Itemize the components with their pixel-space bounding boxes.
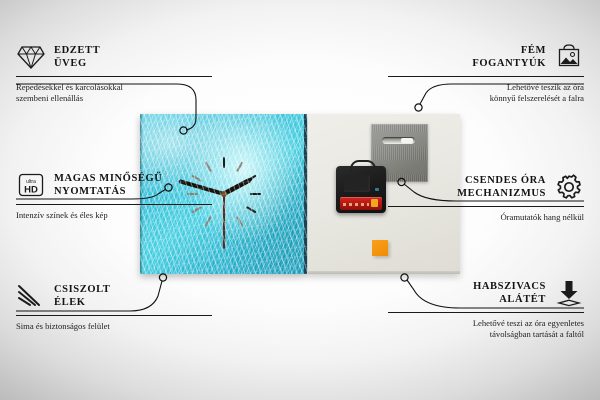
foam-spacer-pad: [372, 240, 388, 256]
callout-title-line1: EDZETT: [54, 45, 100, 56]
callout-desc-line2: szembeni ellenállás: [16, 93, 83, 103]
clock-mechanism: [336, 166, 386, 213]
ultra-hd-icon: ultra HD: [16, 170, 46, 200]
callout-desc-line1: Sima és biztonságos felület: [16, 321, 110, 331]
svg-text:HD: HD: [24, 185, 38, 196]
callout-title: CSENDES ÓRA MECHANIZMUS: [457, 174, 546, 200]
callout-divider: [388, 206, 584, 207]
battery: [340, 197, 382, 210]
callout-divider: [16, 204, 212, 205]
callout-desc-line2: távolságban tartását a faltól: [490, 329, 584, 339]
clock-second-hand: [223, 194, 225, 249]
tick-12: [223, 157, 225, 231]
callout-title: HABSZIVACS ALÁTÉT: [473, 280, 546, 306]
callout-desc-line1: Repedésekkel és karcolásokkal: [16, 82, 123, 92]
callout-divider: [388, 312, 584, 313]
callout-high-quality-print: ultra HD MAGAS MINŐSÉGŰ NYOMTATÁS Intenz…: [16, 170, 212, 221]
callout-polished-edges: CSISZOLT ÉLEK Sima és biztonságos felüle…: [16, 281, 212, 332]
infographic-canvas: EDZETT ÜVEG Repedésekkel és karcolásokka…: [0, 0, 600, 400]
callout-tempered-glass: EDZETT ÜVEG Repedésekkel és karcolásokka…: [16, 42, 212, 105]
callout-metal-handles: FÉM FOGANTYÚK Lehetővé teszik az óra kön…: [388, 42, 584, 105]
callout-title: MAGAS MINŐSÉGŰ NYOMTATÁS: [54, 172, 162, 198]
callout-title-line2: ALÁTÉT: [499, 294, 546, 305]
glass-edge-right: [304, 114, 307, 274]
callout-header: ultra HD MAGAS MINŐSÉGŰ NYOMTATÁS: [16, 170, 212, 200]
diagonal-lines-icon: [16, 281, 46, 311]
callout-desc-line1: Intenzív színek és éles kép: [16, 210, 108, 220]
mechanism-indicator: [375, 188, 379, 191]
panel-shelf-edge: [308, 271, 460, 274]
diamond-icon: [16, 42, 46, 72]
callout-title-line1: MAGAS MINŐSÉGŰ: [54, 173, 162, 184]
callout-desc-line1: Óramutatók hang nélkül: [500, 212, 584, 222]
callout-silent-mechanism: CSENDES ÓRA MECHANIZMUS Óramutatók hang …: [388, 172, 584, 223]
callout-desc-line2: könnyű felszerelését a falra: [490, 93, 584, 103]
callout-title: EDZETT ÜVEG: [54, 44, 100, 70]
callout-description: Lehetővé teszi az óra egyenletes távolsá…: [388, 318, 584, 341]
callout-title-line2: ÜVEG: [54, 58, 87, 69]
down-arrow-pad-icon: [554, 278, 584, 308]
callout-description: Repedésekkel és karcolásokkal szembeni e…: [16, 82, 212, 105]
callout-title-line2: MECHANIZMUS: [457, 188, 546, 199]
clock-center-pin: [221, 191, 227, 197]
callout-title-line2: FOGANTYÚK: [472, 58, 546, 69]
callout-header: HABSZIVACS ALÁTÉT: [388, 278, 584, 308]
callout-header: CSISZOLT ÉLEK: [16, 281, 212, 311]
picture-hanger-icon: [554, 42, 584, 72]
callout-title: FÉM FOGANTYÚK: [472, 44, 546, 70]
tick-6: [223, 157, 225, 231]
callout-title-line1: CSENDES ÓRA: [465, 175, 546, 186]
callout-title: CSISZOLT ÉLEK: [54, 283, 110, 309]
callout-header: EDZETT ÜVEG: [16, 42, 212, 72]
callout-description: Intenzív színek és éles kép: [16, 210, 212, 221]
callout-title-line1: CSISZOLT: [54, 284, 110, 295]
gear-icon: [554, 172, 584, 202]
callout-description: Sima és biztonságos felület: [16, 321, 212, 332]
callout-title-line1: FÉM: [521, 45, 546, 56]
callout-desc-line1: Lehetővé teszik az óra: [507, 82, 584, 92]
wire-endpoint-metal-handles: [415, 104, 422, 111]
callout-foam-spacer: HABSZIVACS ALÁTÉT Lehetővé teszi az óra …: [388, 278, 584, 341]
callout-title-line2: NYOMTATÁS: [54, 186, 126, 197]
callout-desc-line1: Lehetővé teszi az óra egyenletes: [473, 318, 584, 328]
callout-divider: [16, 315, 212, 316]
hanger-slot: [382, 137, 415, 144]
callout-divider: [388, 76, 584, 77]
callout-header: FÉM FOGANTYÚK: [388, 42, 584, 72]
callout-divider: [16, 76, 212, 77]
callout-description: Óramutatók hang nélkül: [388, 212, 584, 223]
callout-header: CSENDES ÓRA MECHANIZMUS: [388, 172, 584, 202]
mechanism-hanging-loop: [350, 160, 376, 172]
mechanism-housing: [344, 175, 370, 192]
callout-title-line2: ÉLEK: [54, 297, 86, 308]
callout-description: Lehetővé teszik az óra könnyű felszerelé…: [388, 82, 584, 105]
callout-title-line1: HABSZIVACS: [473, 281, 546, 292]
clock-hour-hand: [222, 176, 254, 196]
